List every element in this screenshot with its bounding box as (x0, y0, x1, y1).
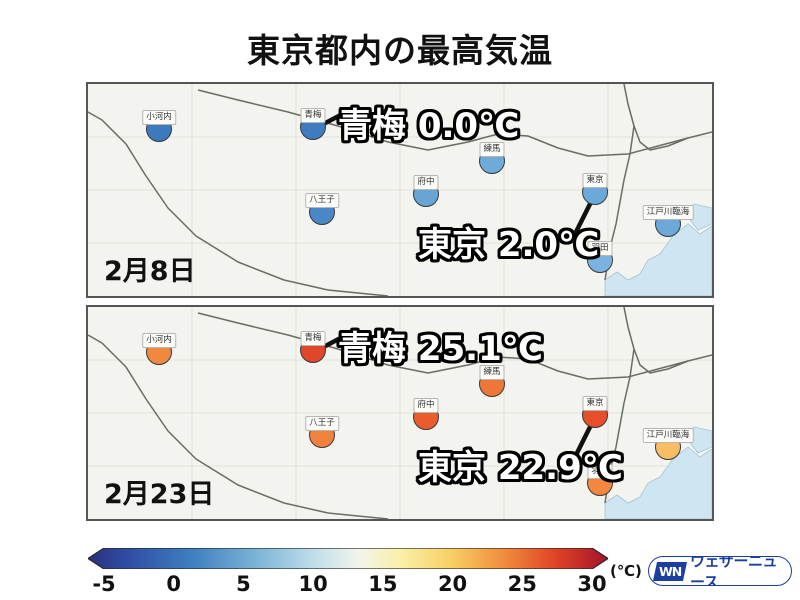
station-label-edogawarinkai: 江戸川臨海 (643, 205, 694, 220)
scale-tick-20: 20 (438, 572, 467, 596)
station-label-tokyo: 東京 (582, 173, 607, 188)
weather-map-page: 東京都内の最高気温 (0, 0, 800, 600)
station-label-edogawarinkai: 江戸川臨海 (643, 428, 694, 443)
color-scale-gradient (88, 548, 608, 569)
map-panel-top[interactable]: 小河内青梅練馬八王子府中東京江戸川臨海羽田 青梅 0.0℃東京 2.0℃ 2月8… (86, 82, 714, 298)
station-marker-tokyo[interactable]: 東京 (582, 402, 608, 428)
scale-unit-label: (℃) (610, 562, 642, 580)
station-marker-fuchu[interactable]: 府中 (413, 404, 439, 430)
station-marker-hachioji[interactable]: 八王子 (309, 199, 335, 225)
station-label-hachioji: 八王子 (305, 193, 339, 208)
station-label-ome: 青梅 (300, 108, 325, 123)
station-marker-ome[interactable]: 青梅 (300, 337, 326, 363)
scale-tick-15: 15 (368, 572, 397, 596)
page-title: 東京都内の最高気温 (0, 24, 800, 72)
station-marker-tokyo[interactable]: 東京 (582, 179, 608, 205)
scale-tick--5: -5 (92, 572, 115, 596)
tokyo-callout: 東京 22.9℃ (418, 440, 623, 489)
scale-tick-0: 0 (166, 572, 181, 596)
wn-mark-text: WN (659, 564, 681, 579)
weathernews-logo[interactable]: WN ウェザーニュース (648, 556, 792, 586)
tokyo-callout: 東京 2.0℃ (418, 217, 599, 266)
map-panel-bottom[interactable]: 小河内青梅練馬八王子府中東京江戸川臨海羽田 青梅 25.1℃東京 22.9℃ 2… (86, 305, 714, 521)
station-marker-nerima[interactable]: 練馬 (479, 371, 505, 397)
station-label-fuchu: 府中 (413, 175, 438, 190)
station-marker-nerima[interactable]: 練馬 (479, 148, 505, 174)
station-marker-ogouchi[interactable]: 小河内 (146, 116, 172, 142)
station-marker-hachioji[interactable]: 八王子 (309, 422, 335, 448)
ome-callout: 青梅 0.0℃ (338, 98, 519, 147)
station-label-ome: 青梅 (300, 331, 325, 346)
station-marker-ome[interactable]: 青梅 (300, 114, 326, 140)
station-marker-ogouchi[interactable]: 小河内 (146, 339, 172, 365)
date-stamp-bottom: 2月23日 (104, 472, 214, 511)
station-label-ogouchi: 小河内 (142, 110, 176, 125)
temperature-color-scale: -5051015202530 (88, 548, 608, 594)
date-stamp-top: 2月8日 (104, 249, 196, 288)
station-label-hachioji: 八王子 (305, 416, 339, 431)
scale-tick-30: 30 (577, 572, 606, 596)
logo-brand-text: ウェザーニュース (690, 556, 791, 586)
wn-mark-icon: WN (653, 562, 687, 581)
station-label-tokyo: 東京 (582, 396, 607, 411)
station-marker-fuchu[interactable]: 府中 (413, 181, 439, 207)
scale-tick-10: 10 (299, 572, 328, 596)
color-scale-ticks: -5051015202530 (88, 569, 608, 595)
scale-tick-25: 25 (508, 572, 537, 596)
station-marker-edogawarinkai[interactable]: 江戸川臨海 (655, 434, 681, 460)
station-label-fuchu: 府中 (413, 398, 438, 413)
ome-callout: 青梅 25.1℃ (338, 321, 543, 370)
scale-tick-5: 5 (236, 572, 251, 596)
station-label-ogouchi: 小河内 (142, 333, 176, 348)
color-scale-bar (88, 548, 608, 569)
station-marker-edogawarinkai[interactable]: 江戸川臨海 (655, 211, 681, 237)
